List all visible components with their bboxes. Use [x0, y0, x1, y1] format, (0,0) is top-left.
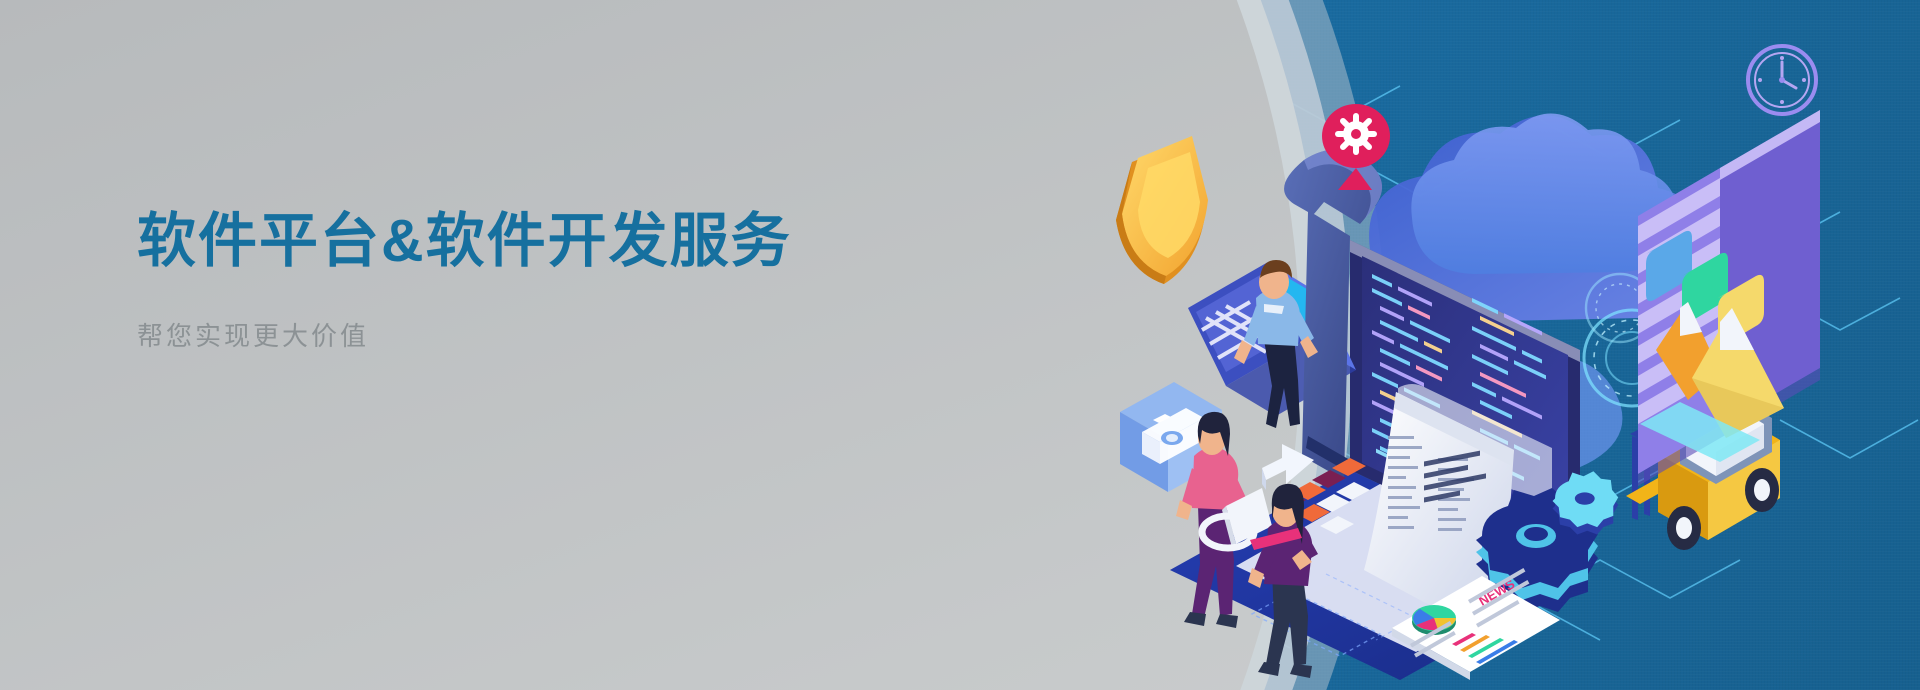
hero-illustration: NEWS [1020, 40, 1920, 680]
security-shield-icon [1116, 136, 1208, 284]
wall-clock-icon [1748, 46, 1816, 114]
page-title: 软件平台&软件开发服务 [137, 206, 897, 278]
hero-banner: 软件平台&软件开发服务 帮您实现更大价值 [0, 0, 1920, 690]
copy-block: 软件平台&软件开发服务 帮您实现更大价值 [137, 206, 897, 353]
page-subtitle: 帮您实现更大价值 [137, 316, 897, 353]
